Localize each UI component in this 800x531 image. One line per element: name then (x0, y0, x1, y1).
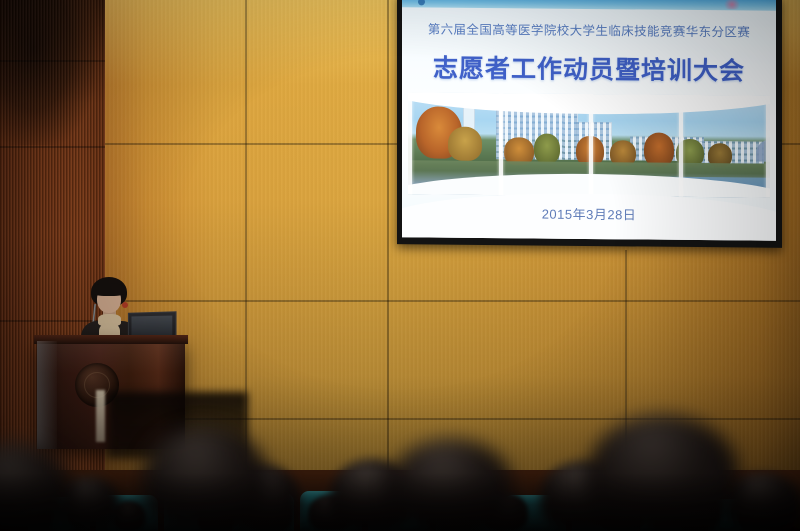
projection-screen-surface: 第六届全国高等医学院校大学生临床技能竞赛华东分区赛 志愿者工作动员暨培训大会 (402, 0, 776, 241)
panorama-tree (534, 133, 560, 163)
slide-title: 志愿者工作动员暨培训大会 (402, 48, 776, 88)
panorama-panel-divider (408, 92, 412, 197)
panorama-panel-divider (679, 92, 683, 197)
presentation-slide: 第六届全国高等医学院校大学生临床技能竞赛华东分区赛 志愿者工作动员暨培训大会 (402, 0, 776, 241)
speaker-collar (98, 314, 121, 326)
speaker-fringe (92, 283, 126, 296)
wall-seam (0, 60, 112, 62)
ribbon-dot-icon (418, 0, 425, 5)
door-light-strip (96, 390, 105, 442)
slide-date: 2015年3月28日 (402, 202, 776, 225)
ribbon-flower-icon (724, 0, 740, 9)
wall-shadow (0, 0, 95, 145)
photograph-scene: 第六届全国高等医学院校大学生临床技能竞赛华东分区赛 志愿者工作动员暨培训大会 (0, 0, 800, 531)
slide-subtitle: 第六届全国高等医学院校大学生临床技能竞赛华东分区赛 (402, 18, 776, 41)
microphone-head-icon (122, 302, 128, 308)
campus-panorama-image (408, 92, 770, 197)
audience-area (0, 392, 800, 531)
projection-screen: 第六届全国高等医学院校大学生临床技能竞赛华东分区赛 志愿者工作动员暨培训大会 (397, 0, 782, 248)
panorama-panel-divider (766, 92, 770, 197)
panorama-tree (448, 127, 482, 161)
panorama-panel-divider (589, 92, 593, 197)
wall-seam (105, 300, 800, 302)
wall-seam (0, 146, 112, 148)
slide-top-ribbon (402, 0, 776, 11)
foreground-darkening (0, 473, 800, 531)
podium-top-surface (34, 335, 188, 344)
panorama-panel-divider (499, 92, 503, 197)
